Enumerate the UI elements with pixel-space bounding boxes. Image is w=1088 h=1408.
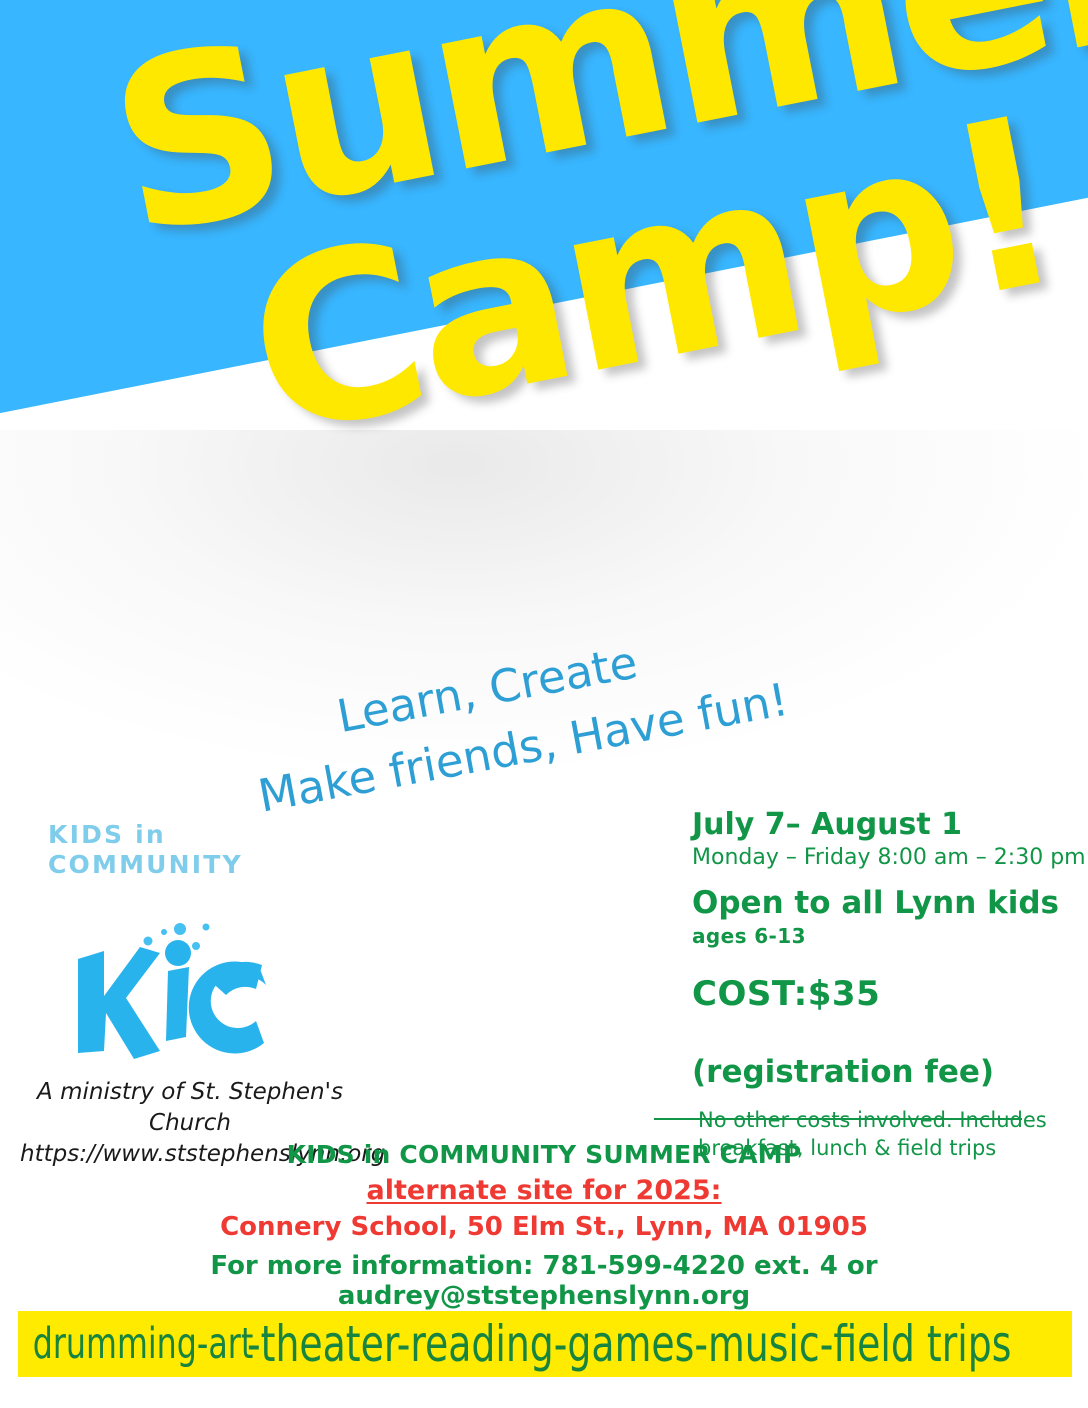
contact-info[interactable]: For more information: 781-599-4220 ext. … [0,1251,1088,1311]
registration-fee-label: (registration fee) [692,1054,1082,1090]
camp-cost: COST:$35 [692,974,1082,1014]
activities-part-2: -theater-reading-games-music-field trips [247,1315,1011,1373]
camp-ages: ages 6-13 [692,924,1082,948]
org-name: KIDS in COMMUNITY [20,820,360,879]
page-title: Summer Camp! [46,0,1088,491]
activities-banner: drumming-art -theater-reading-games-musi… [18,1311,1072,1377]
camp-dates: July 7– August 1 [692,808,1082,842]
headline-line-summer: Summer [97,0,1049,261]
camp-name-heading: KIDS in COMMUNITY SUMMER CAMP [0,1140,1088,1169]
camp-cost-note-line-1: No other costs involved. Includes [698,1106,1082,1134]
ministry-line-1: A ministry of St. Stephen's [20,1077,360,1108]
camp-eligibility: Open to all Lynn kids [692,886,1082,920]
ministry-text: A ministry of St. Stephen's Church [20,1077,360,1139]
camp-details: July 7– August 1 Monday – Friday 8:00 am… [692,808,1082,1163]
alternate-site-label: alternate site for 2025: [0,1175,1088,1206]
kic-logo-block: KIDS in COMMUNITY A ministry of St. Step… [20,820,360,1169]
horizontal-rule [654,1118,1022,1120]
org-name-line-1: KIDS in [48,820,360,850]
headline-line-camp: Camp! [235,91,1088,462]
activities-text: drumming-art -theater-reading-games-musi… [18,1311,1072,1377]
camp-address: Connery School, 50 Elm St., Lynn, MA 019… [0,1212,1088,1242]
contact-block: KIDS in COMMUNITY SUMMER CAMP alternate … [0,1140,1088,1311]
activities-part-1: drumming-art [18,1319,253,1369]
org-name-line-2: COMMUNITY [48,850,360,880]
camp-hours: Monday – Friday 8:00 am – 2:30 pm [692,844,1082,873]
blue-diagonal-banner [0,0,1088,419]
kic-logo-icon [20,901,360,1071]
ministry-line-2: Church [20,1108,360,1139]
